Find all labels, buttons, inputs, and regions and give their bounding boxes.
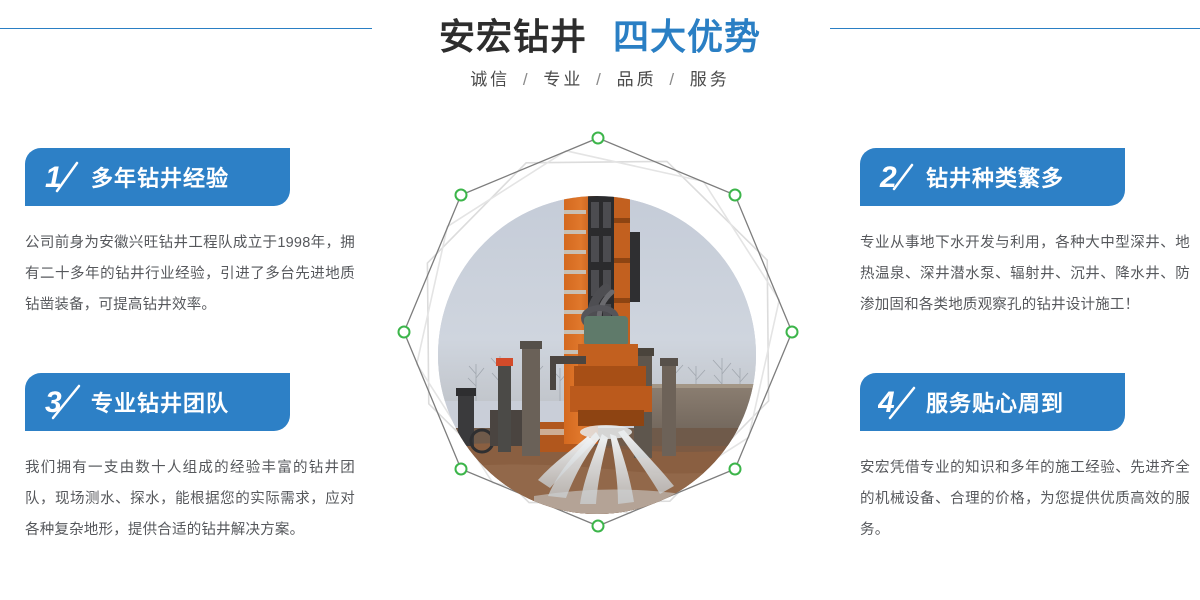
feature-body-2: 专业从事地下水开发与利用，各种大中型深井、地热温泉、深井潜水泵、辐射井、沉井、降… xyxy=(860,228,1190,321)
subtitle-item-3: 品质 xyxy=(617,70,657,89)
decor-node-bottom-right xyxy=(730,464,741,475)
feature-body-4: 安宏凭借专业的知识和多年的施工经验、先进齐全的机械设备、合理的价格，为您提供优质… xyxy=(860,453,1190,546)
feature-card-2: 2 钻井种类繁多 专业从事地下水开发与利用，各种大中型深井、地热温泉、深井潜水泵… xyxy=(860,148,1195,321)
header: 安宏钻井四大优势 诚信 / 专业 / 品质 / 服务 xyxy=(0,0,1200,110)
number-1-icon: 1 xyxy=(43,157,87,197)
title-company: 安宏钻井 xyxy=(439,16,587,57)
decor-node-left xyxy=(399,327,410,338)
feature-badge-4: 4 服务贴心周到 xyxy=(860,373,1125,431)
decor-node-top-left xyxy=(456,190,467,201)
subtitle-item-1: 诚信 xyxy=(470,70,510,89)
promo-banner: 安宏钻井四大优势 诚信 / 专业 / 品质 / 服务 xyxy=(0,0,1200,600)
feature-title-3: 专业钻井团队 xyxy=(91,386,229,418)
decor-node-top-right xyxy=(730,190,741,201)
subtitle-separator: / xyxy=(669,70,677,89)
feature-title-1: 多年钻井经验 xyxy=(91,161,229,193)
subtitle-item-2: 专业 xyxy=(543,70,583,89)
decor-node-right xyxy=(787,327,798,338)
subtitle: 诚信 / 专业 / 品质 / 服务 xyxy=(0,65,1200,90)
feature-title-4: 服务贴心周到 xyxy=(926,386,1064,418)
decor-node-bottom-left xyxy=(456,464,467,475)
feature-body-1: 公司前身为安徽兴旺钻井工程队成立于1998年，拥有二十多年的钻井行业经验，引进了… xyxy=(25,228,355,321)
number-4-icon: 4 xyxy=(878,382,922,422)
drilling-rig-photo xyxy=(438,196,756,514)
feature-body-3: 我们拥有一支由数十人组成的经验丰富的钻井团队，现场测水、探水，能根据您的实际需求… xyxy=(25,453,355,546)
number-2-icon: 2 xyxy=(878,157,922,197)
feature-badge-3: 3 专业钻井团队 xyxy=(25,373,290,431)
subtitle-separator: / xyxy=(523,70,531,89)
subtitle-item-4: 服务 xyxy=(690,70,730,89)
decor-node-bottom xyxy=(593,521,604,532)
title-highlight: 四大优势 xyxy=(613,16,761,57)
feature-title-2: 钻井种类繁多 xyxy=(926,161,1064,193)
feature-card-3: 3 专业钻井团队 我们拥有一支由数十人组成的经验丰富的钻井团队，现场测水、探水，… xyxy=(25,373,360,546)
number-3-icon: 3 xyxy=(43,382,87,422)
page-title: 安宏钻井四大优势 xyxy=(0,8,1200,60)
feature-card-4: 4 服务贴心周到 安宏凭借专业的知识和多年的施工经验、先进齐全的机械设备、合理的… xyxy=(860,373,1195,546)
svg-text:3: 3 xyxy=(45,386,62,419)
subtitle-separator: / xyxy=(596,70,604,89)
feature-card-1: 1 多年钻井经验 公司前身为安徽兴旺钻井工程队成立于1998年，拥有二十多年的钻… xyxy=(25,148,360,321)
decor-node-top xyxy=(593,133,604,144)
feature-badge-1: 1 多年钻井经验 xyxy=(25,148,290,206)
feature-badge-2: 2 钻井种类繁多 xyxy=(860,148,1125,206)
